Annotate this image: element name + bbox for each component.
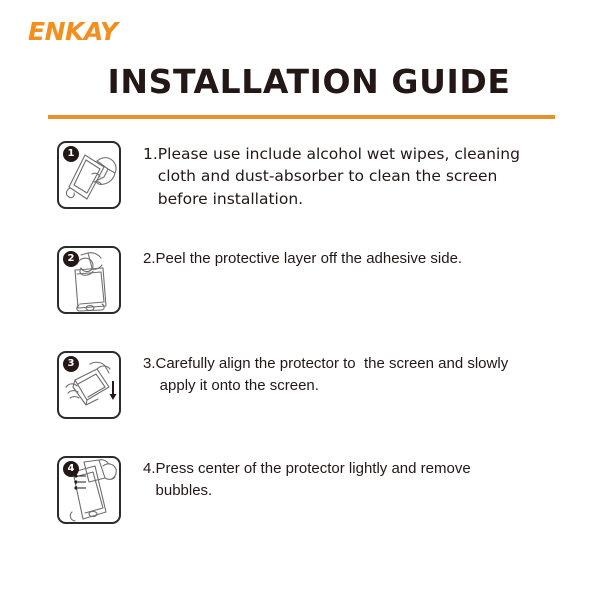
step-number-badge: 4	[63, 461, 79, 477]
press-center-bubbles-icon: 4	[57, 456, 121, 524]
title-divider	[48, 115, 555, 119]
list-item: 3 3.Carefully align the protector to the…	[0, 351, 600, 456]
step-number-badge: 1	[63, 146, 79, 162]
page-title-text: INSTALLATION GUIDE	[89, 62, 510, 101]
step-description: 3.Carefully align the protector to the s…	[143, 353, 553, 397]
list-item: 2 2.Peel the protective layer off the ad…	[0, 246, 600, 351]
step-description: 4.Press center of the protector lightly …	[143, 458, 553, 502]
step-description: 1.Please use include alcohol wet wipes, …	[143, 143, 553, 210]
step-number-badge: 2	[63, 251, 79, 267]
step-number-badge: 3	[63, 356, 79, 372]
page-title: INSTALLATION GUIDE	[0, 62, 600, 101]
align-protector-icon: 3	[57, 351, 121, 419]
list-item: 4 4.Press center of the protector lightl…	[0, 456, 600, 561]
list-item: 1 1.Please use include alcohol wet wipes…	[0, 141, 600, 246]
step-description: 2.Peel the protective layer off the adhe…	[143, 248, 553, 270]
steps-list: 1 1.Please use include alcohol wet wipes…	[0, 141, 600, 561]
peel-protective-layer-icon: 2	[57, 246, 121, 314]
wipe-phone-screen-icon: 1	[57, 141, 121, 209]
brand-logo: ENKAY	[28, 19, 117, 44]
